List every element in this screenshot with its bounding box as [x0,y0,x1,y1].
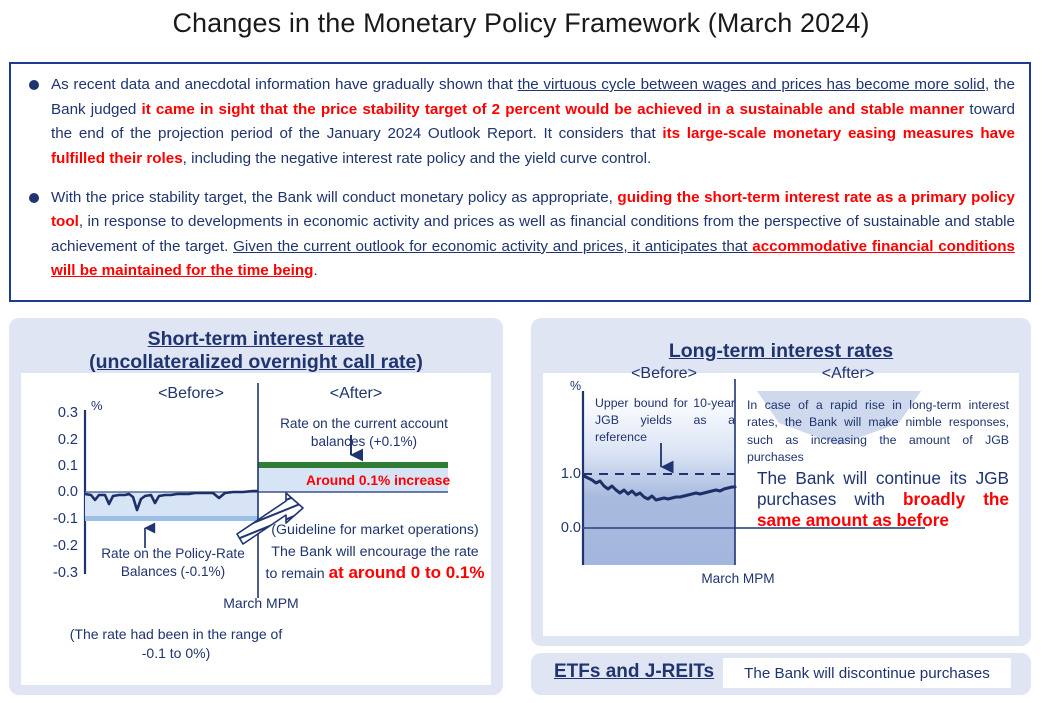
left-footnote: (The rate had been in the range of -0.1 … [66,625,286,663]
seg: . [313,262,317,279]
jgb-statement: The Bank will continue its JGB purchases… [757,468,1009,531]
right-ytick-1.0: 1.0 [541,466,581,482]
left-mpm-label: March MPM [181,595,341,611]
bullet-item-1: As recent data and anecdotal information… [11,64,1029,172]
annotation-around-increase: Around 0.1% increase [306,473,450,488]
seg: As recent data and anecdotal information… [51,76,518,93]
page-title: Changes in the Monetary Policy Framework… [0,8,1042,39]
right-after-label: <After> [773,365,923,383]
etf-value: The Bank will discontinue purchases [723,658,1011,688]
bullet-1-text: As recent data and anecdotal information… [51,73,1015,172]
ytick--0.2: -0.2 [16,538,78,554]
right-before-label: <Before> [589,365,739,383]
ytick--0.1: -0.1 [16,511,78,527]
bullet-dot-icon [29,80,39,90]
ytick-0.1: 0.1 [16,458,78,474]
seg-red: it came in sight that the price stabilit… [142,101,965,118]
slide-root: Changes in the Monetary Policy Framework… [0,0,1042,703]
ytick--0.3: -0.3 [16,565,78,581]
bullet-item-2: With the price stability target, the Ban… [11,172,1029,285]
annotation-nimble-responses: In case of a rapid rise in long-term int… [747,397,1009,467]
right-mpm-label: March MPM [663,571,813,586]
ytick-0.2: 0.2 [16,432,78,448]
left-unit-label: % [91,398,103,413]
current-account-rate-line [258,462,448,468]
right-ytick-0.0: 0.0 [541,520,581,536]
seg-underline: Given the current outlook for economic a… [233,238,752,255]
guideline-header: (Guideline for market operations) [264,521,486,539]
left-after-label: <After> [281,385,431,403]
short-term-title-line2: (uncollateralized overnight call rate) [9,351,503,374]
ytick-0.0: 0.0 [16,484,78,500]
guideline-red: at around 0 to 0.1% [329,563,485,582]
seg: With the price stability target, the Ban… [51,189,617,206]
short-term-chart-card: 0.3 0.2 0.1 0.0 -0.1 -0.2 -0.3 % <Before… [21,373,491,685]
policy-summary-box: As recent data and anecdotal information… [9,62,1031,302]
seg-underline: the virtuous cycle between wages and pri… [518,76,985,93]
long-term-chart-card: 1.0 0.0 % <Before> <After> Upper bound f… [543,373,1019,636]
annotation-upper-bound: Upper bound for 10-year JGB yields as a … [595,395,735,446]
left-before-label: <Before> [116,385,266,403]
short-term-panel-title: Short-term interest rate (uncollateraliz… [9,328,503,375]
short-term-title-line1: Short-term interest rate [9,328,503,351]
right-unit-label: % [570,379,581,393]
policy-rate-line-before [85,516,258,521]
long-term-panel-title: Long-term interest rates [531,340,1031,363]
ytick-0.3: 0.3 [16,405,78,421]
guideline-body: The Bank will encourage the rate to rema… [264,543,486,585]
seg: , including the negative interest rate p… [183,150,652,167]
etf-label: ETFs and J-REITs [554,661,714,683]
bullet-dot-icon [29,193,39,203]
bullet-2-text: With the price stability target, the Ban… [51,186,1015,285]
annotation-policy-rate-balances: Rate on the Policy-Rate Balances (-0.1%) [83,545,263,580]
annotation-current-account-balances: Rate on the current account balances (+0… [264,415,464,450]
